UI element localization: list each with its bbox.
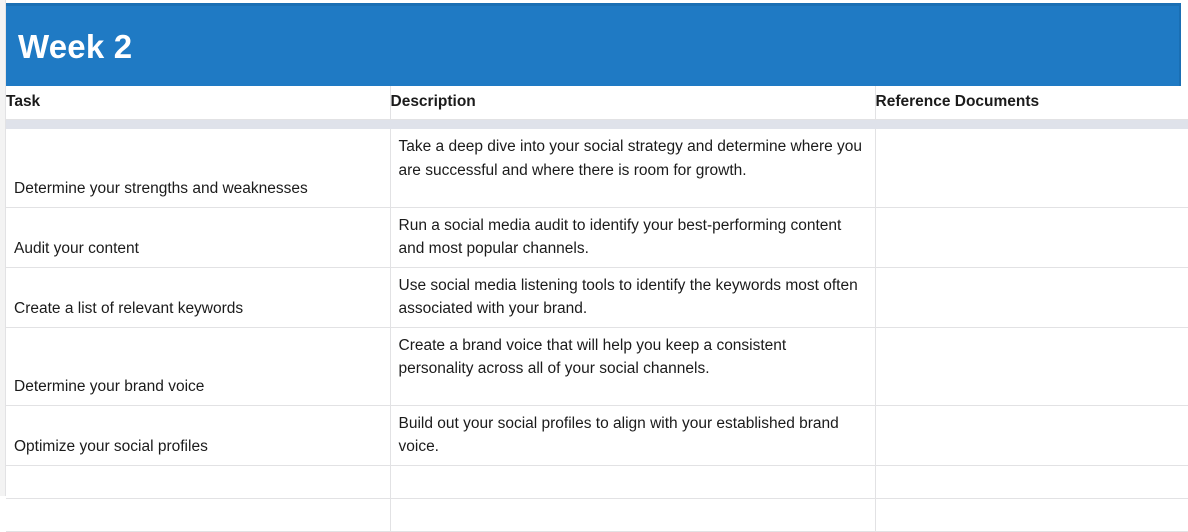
table-row[interactable]: Audit your content Run a social media au…: [6, 207, 1188, 267]
header-spacer-cell-description: [390, 119, 875, 129]
cell-reference[interactable]: [875, 327, 1188, 405]
page-title: Week 2: [6, 30, 132, 63]
cell-reference[interactable]: [875, 465, 1188, 498]
table-header: Task Description Reference Documents: [6, 86, 1188, 119]
cell-task[interactable]: Audit your content: [6, 207, 390, 267]
header-spacer-cell-task: [6, 119, 390, 129]
cell-task[interactable]: Determine your brand voice: [6, 327, 390, 405]
table-header-row: Task Description Reference Documents: [6, 86, 1188, 119]
cell-reference[interactable]: [875, 267, 1188, 327]
cell-task[interactable]: [6, 498, 390, 531]
cell-description[interactable]: [390, 498, 875, 531]
cell-description[interactable]: Use social media listening tools to iden…: [390, 267, 875, 327]
cell-task[interactable]: Optimize your social profiles: [6, 405, 390, 465]
header-spacer-cell-reference: [875, 119, 1188, 129]
column-header-reference-documents[interactable]: Reference Documents: [875, 86, 1188, 119]
spreadsheet-sheet: Week 2 Task Description Reference Docume…: [0, 0, 1188, 496]
table-row[interactable]: Determine your brand voice Create a bran…: [6, 327, 1188, 405]
table-row[interactable]: [6, 498, 1188, 531]
cell-description[interactable]: Take a deep dive into your social strate…: [390, 129, 875, 207]
table-row[interactable]: Create a list of relevant keywords Use s…: [6, 267, 1188, 327]
column-header-description[interactable]: Description: [390, 86, 875, 119]
cell-reference[interactable]: [875, 498, 1188, 531]
table-row[interactable]: [6, 465, 1188, 498]
table-row[interactable]: Optimize your social profiles Build out …: [6, 405, 1188, 465]
cell-description[interactable]: Build out your social profiles to align …: [390, 405, 875, 465]
header-spacer-row: [6, 119, 1188, 129]
table-body: Determine your strengths and weaknesses …: [6, 119, 1188, 531]
cell-description[interactable]: Create a brand voice that will help you …: [390, 327, 875, 405]
cell-description[interactable]: [390, 465, 875, 498]
column-header-task[interactable]: Task: [6, 86, 390, 119]
cell-reference[interactable]: [875, 129, 1188, 207]
cell-reference[interactable]: [875, 405, 1188, 465]
cell-description[interactable]: Run a social media audit to identify you…: [390, 207, 875, 267]
row-header-gutter: [0, 0, 6, 496]
cell-task[interactable]: [6, 465, 390, 498]
week-title-banner: Week 2: [6, 3, 1181, 86]
cell-reference[interactable]: [875, 207, 1188, 267]
table-row[interactable]: Determine your strengths and weaknesses …: [6, 129, 1188, 207]
cell-task[interactable]: Create a list of relevant keywords: [6, 267, 390, 327]
cell-task[interactable]: Determine your strengths and weaknesses: [6, 129, 390, 207]
task-table: Task Description Reference Documents Det…: [6, 86, 1188, 532]
